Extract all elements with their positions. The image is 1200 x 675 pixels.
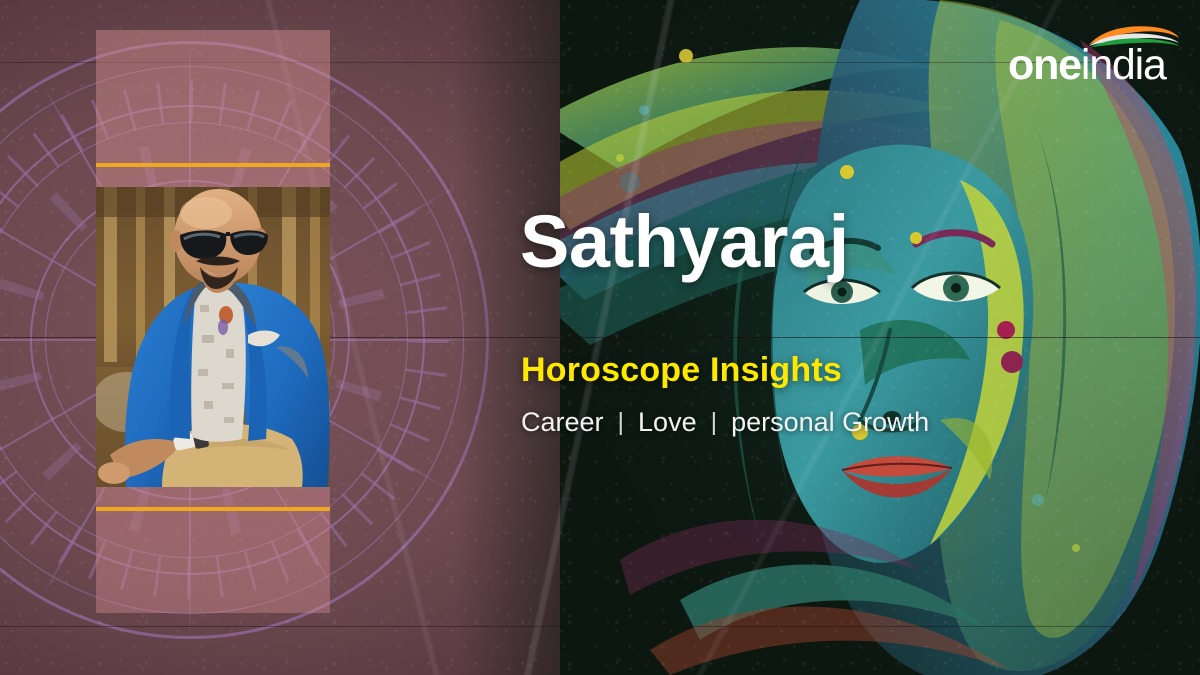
tag-separator-1: | — [604, 409, 639, 437]
tag-career: Career — [521, 408, 604, 438]
oneindia-logo[interactable]: oneindia — [1008, 24, 1180, 90]
gold-accent-line-bottom — [96, 507, 330, 511]
banner-canvas: Sathyaraj Horoscope Insights Career | Lo… — [0, 0, 1200, 675]
gold-accent-line-top — [96, 163, 330, 167]
tag-love: Love — [638, 408, 697, 438]
topic-tags-row: Career | Love | personal Growth — [521, 408, 929, 438]
logo-text-india: india — [1081, 41, 1166, 89]
subtitle-horoscope-insights: Horoscope Insights — [521, 352, 842, 389]
divider-line-bottom — [0, 626, 1200, 627]
tag-personal-growth: personal Growth — [731, 408, 929, 438]
tag-separator-2: | — [697, 409, 732, 437]
oneindia-wordmark: oneindia — [1008, 44, 1166, 87]
logo-text-one: one — [1008, 41, 1081, 89]
celebrity-name-title: Sathyaraj — [520, 205, 849, 279]
celebrity-photo — [96, 187, 330, 487]
